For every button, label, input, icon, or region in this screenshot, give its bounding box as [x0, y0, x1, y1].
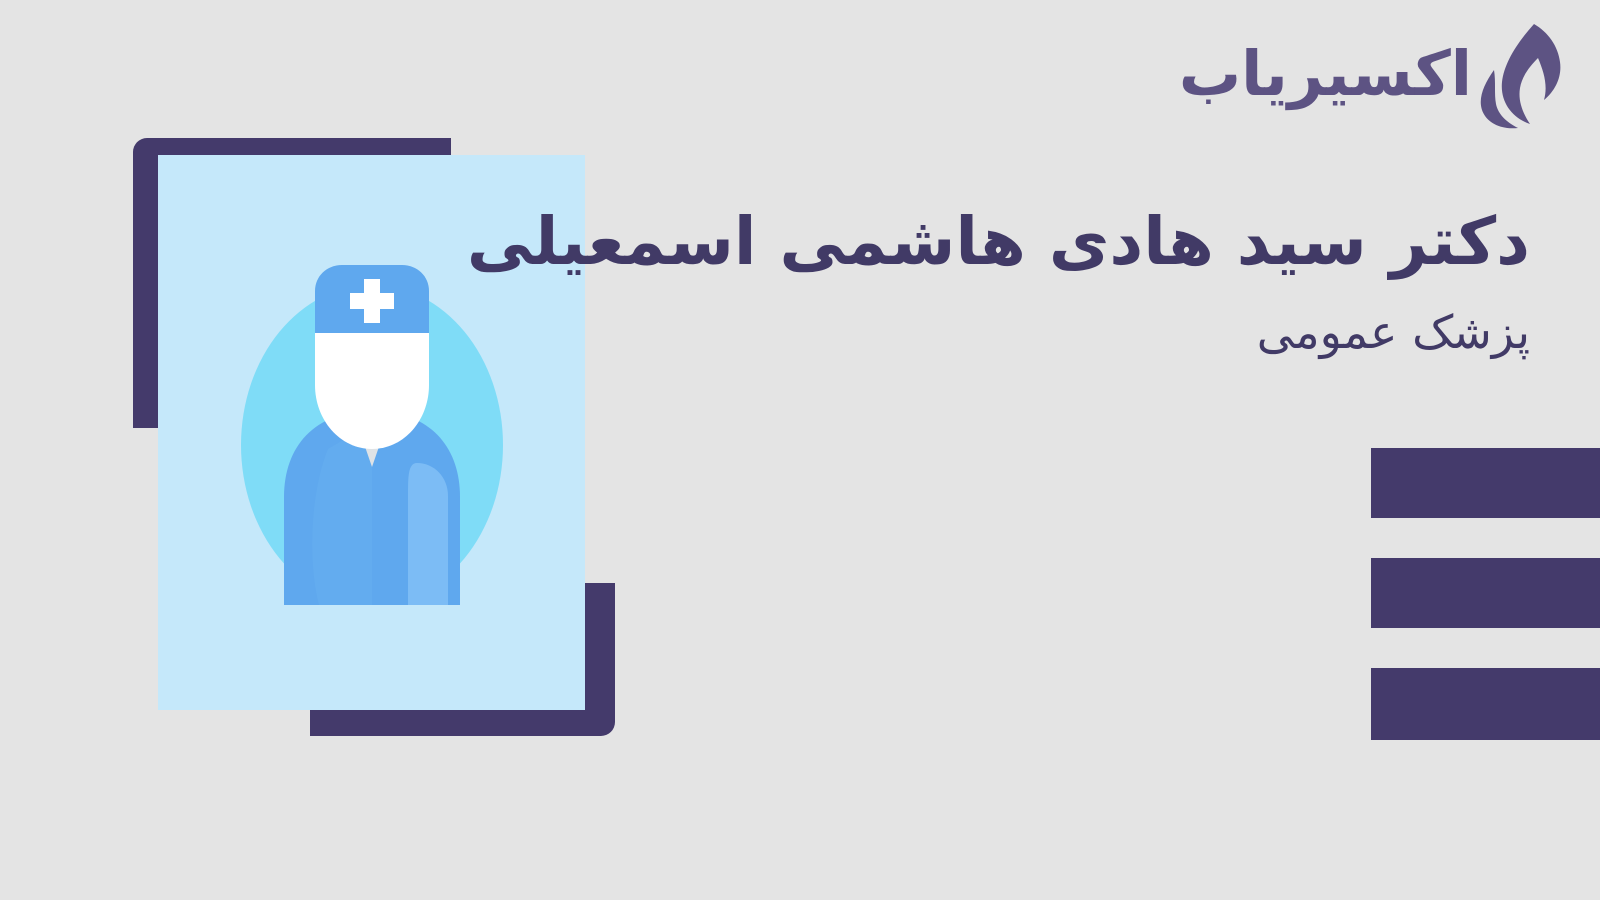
doctor-profile-banner: اکسیریاب [0, 0, 1600, 900]
decorative-bar [1371, 558, 1600, 628]
flame-droplet-icon [1478, 22, 1564, 134]
doctor-text-block: دکتر سید هادی هاشمی اسمعیلی پزشک عمومی [520, 198, 1530, 363]
doctor-avatar-icon [222, 253, 522, 613]
decorative-bar [1371, 668, 1600, 740]
decorative-bar [1371, 448, 1600, 518]
brand-logo[interactable]: اکسیریاب [1179, 22, 1564, 134]
doctor-name: دکتر سید هادی هاشمی اسمعیلی [520, 198, 1530, 285]
doctor-specialty: پزشک عمومی [520, 303, 1530, 363]
brand-wordmark: اکسیریاب [1179, 43, 1472, 113]
